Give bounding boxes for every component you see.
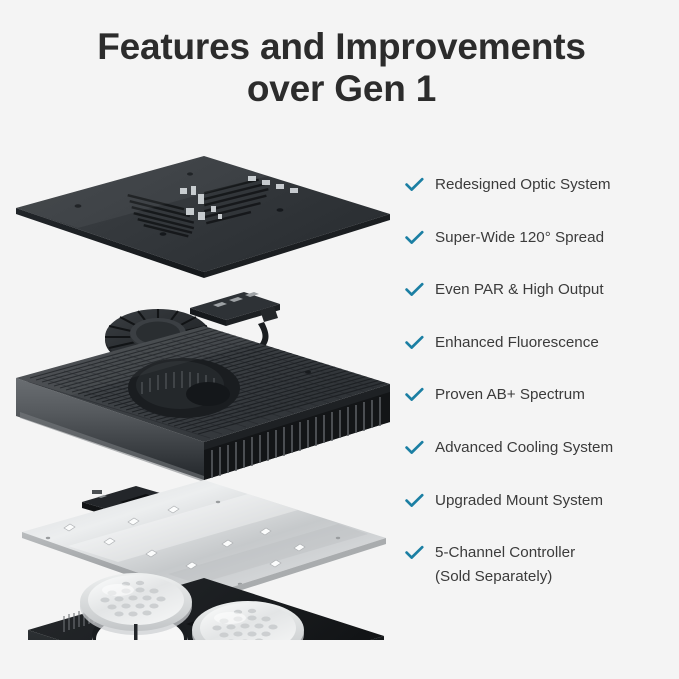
feature-label: Enhanced Fluorescence: [435, 334, 599, 351]
feature-list-item: Super-Wide 120° Spread: [405, 226, 673, 279]
feature-list-item: Upgraded Mount System: [405, 489, 673, 542]
check-icon: [405, 230, 424, 246]
feature-label: Super-Wide 120° Spread: [435, 229, 604, 246]
page-title-line-2: over Gen 1: [0, 68, 679, 110]
feature-list: Redesigned Optic System Super-Wide 120° …: [405, 173, 673, 588]
check-icon: [405, 493, 424, 509]
check-icon: [405, 335, 424, 351]
check-icon: [405, 545, 424, 561]
feature-list-item: Enhanced Fluorescence: [405, 331, 673, 384]
feature-list-item: Redesigned Optic System: [405, 173, 673, 226]
layer-top-cover-plate: [16, 156, 390, 278]
page-root: Features and Improvements over Gen 1 Red…: [0, 0, 679, 679]
feature-list-item: 5-Channel Controller (Sold Separately): [405, 541, 673, 588]
feature-list-item: Proven AB+ Spectrum: [405, 383, 673, 436]
check-icon: [405, 387, 424, 403]
exploded-view-illustration: [8, 150, 398, 640]
feature-sublabel: (Sold Separately): [435, 565, 673, 589]
feature-label: 5-Channel Controller: [435, 544, 575, 561]
check-icon: [405, 282, 424, 298]
check-icon: [405, 177, 424, 193]
feature-label: Even PAR & High Output: [435, 281, 604, 298]
page-title: Features and Improvements over Gen 1: [0, 26, 679, 110]
feature-label: Upgraded Mount System: [435, 492, 603, 509]
feature-label: Proven AB+ Spectrum: [435, 386, 585, 403]
check-icon: [405, 440, 424, 456]
page-title-line-1: Features and Improvements: [0, 26, 679, 68]
feature-list-item: Even PAR & High Output: [405, 278, 673, 331]
layer-finned-heatsink: [16, 326, 390, 482]
feature-list-item: Advanced Cooling System: [405, 436, 673, 489]
feature-label: Redesigned Optic System: [435, 176, 611, 193]
feature-label: Advanced Cooling System: [435, 439, 613, 456]
